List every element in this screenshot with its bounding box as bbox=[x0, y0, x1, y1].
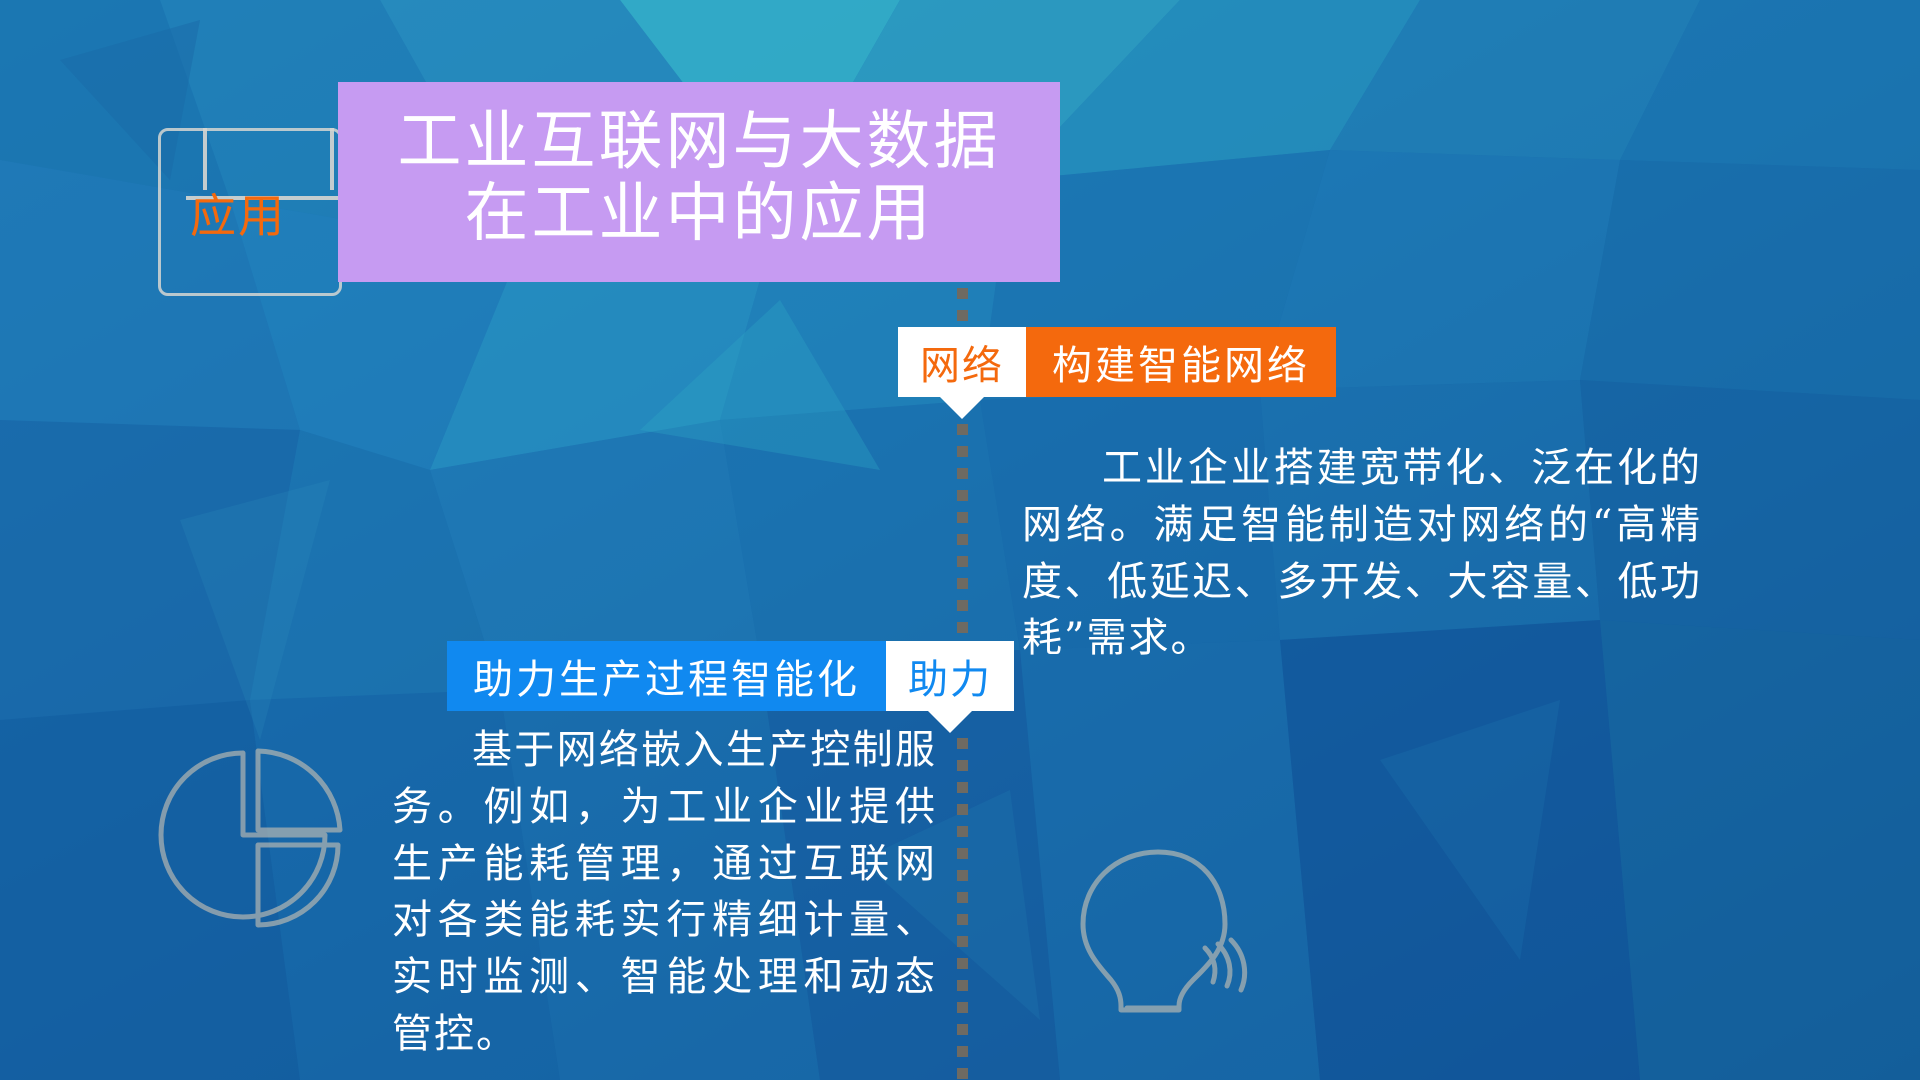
connector-dotted-network bbox=[957, 424, 968, 639]
pie-chart-icon bbox=[148, 735, 348, 940]
section-tag-boost: 助力 bbox=[886, 641, 1014, 711]
slide-canvas: 应用 工业互联网与大数据 在工业中的应用 网络 构建智能网络 工业企业搭建宽带化… bbox=[0, 0, 1920, 1080]
badge-label: 应用 bbox=[190, 180, 286, 246]
section-header-boost[interactable]: 助力生产过程智能化 助力 bbox=[447, 641, 1014, 711]
section-tag-network: 网络 bbox=[898, 327, 1026, 397]
connector-dotted-boost bbox=[957, 738, 968, 1080]
section-body-network: 工业企业搭建宽带化、泛在化的网络。满足智能制造对网络的“高精度、低延迟、多开发、… bbox=[1022, 440, 1702, 667]
page-title-line-2: 在工业中的应用 bbox=[465, 179, 934, 251]
page-title: 工业互联网与大数据 在工业中的应用 bbox=[338, 82, 1060, 282]
lightbulb-icon bbox=[1055, 840, 1255, 1025]
caret-down-icon bbox=[940, 397, 984, 419]
page-title-line-1: 工业互联网与大数据 bbox=[398, 107, 1001, 179]
section-body-boost: 基于网络嵌入生产控制服务。例如，为工业企业提供生产能耗管理，通过互联网对各类能耗… bbox=[392, 722, 937, 1063]
clipboard-ring-right bbox=[330, 128, 334, 190]
section-heading-boost: 助力生产过程智能化 bbox=[447, 641, 886, 711]
section-header-network[interactable]: 网络 构建智能网络 bbox=[898, 327, 1336, 397]
connector-dotted-top bbox=[957, 288, 968, 328]
section-heading-network: 构建智能网络 bbox=[1026, 327, 1336, 397]
